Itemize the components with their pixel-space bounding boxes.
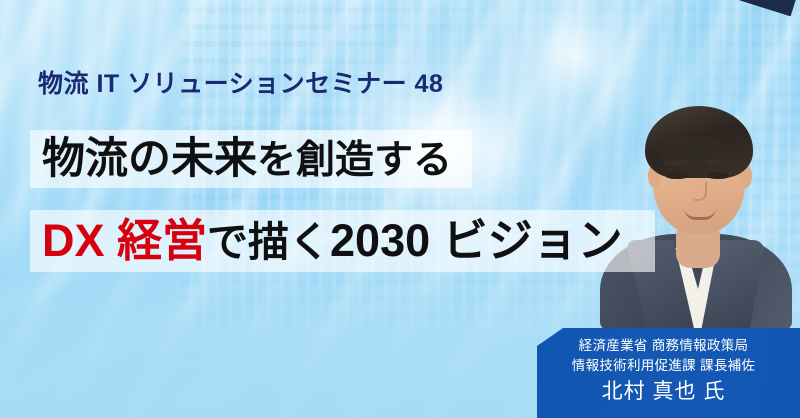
- seminar-series-subtitle: 物流 IT ソリューションセミナー 48: [38, 64, 443, 100]
- headline-line-1: 物流の未来を創造する: [30, 130, 472, 188]
- headline-line-2-accent: DX 経営: [42, 215, 207, 266]
- headline-line-1-emphasis: 物流の未来: [42, 135, 257, 183]
- headline-line-2-end: ビジョン: [430, 215, 623, 266]
- portrait-eye-left: [666, 172, 688, 179]
- headline-line-2-year: 2030: [330, 215, 430, 266]
- speaker-info-panel: 経済産業省 商務情報政策局 情報技術利用促進課 課長補佐 北村 真也 氏: [537, 328, 800, 418]
- headline-line-1-rest: を創造する: [257, 139, 452, 182]
- speaker-org-line-2: 情報技術利用促進課 課長補佐: [537, 356, 790, 376]
- portrait-hair: [645, 106, 753, 178]
- speaker-org-line-1: 経済産業省 商務情報政策局: [537, 336, 790, 356]
- speaker-name: 北村 真也 氏: [537, 377, 790, 407]
- portrait-nose: [694, 182, 707, 201]
- portrait-eye-right: [707, 172, 729, 179]
- ribbon-label: 見逃し配信: [383, 0, 800, 9]
- ribbon-band: 見逃し配信: [380, 0, 800, 16]
- headline-line-2-mid: で描く: [207, 219, 330, 265]
- headline-line-2: DX 経営で描く2030 ビジョン: [30, 210, 655, 272]
- seminar-banner: 見逃し配信 物流 IT ソリューションセミナー 48 物流の未来を創造する DX…: [0, 0, 800, 418]
